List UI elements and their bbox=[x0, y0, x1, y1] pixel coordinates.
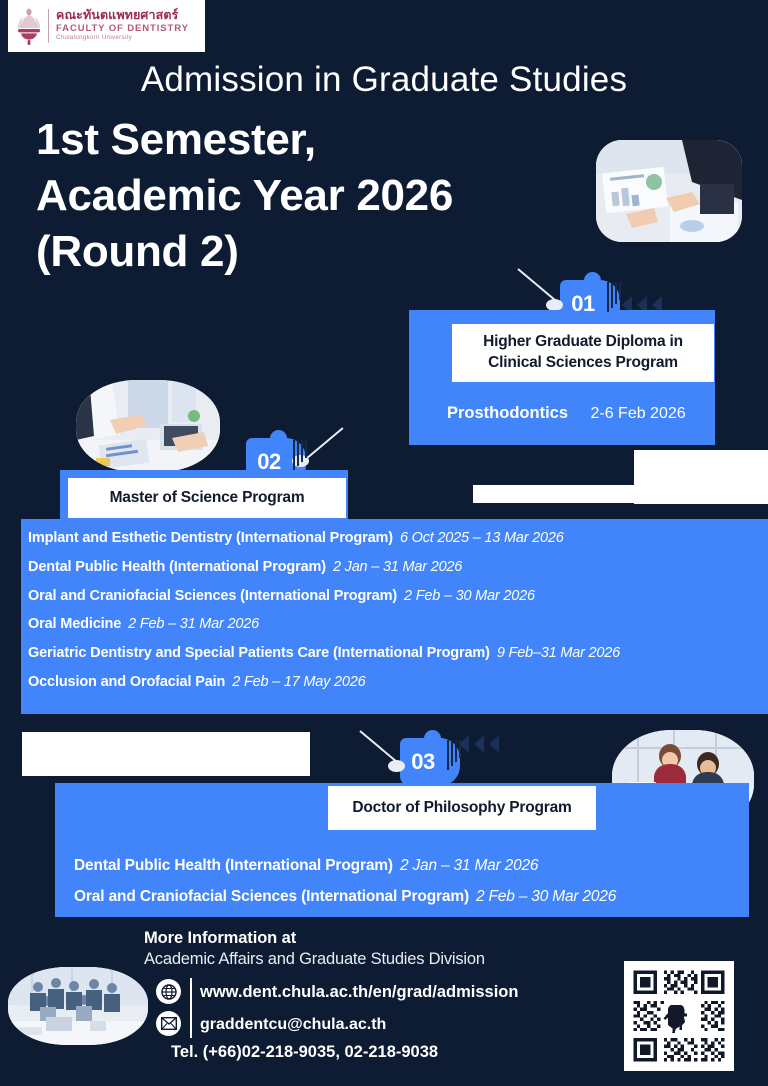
program-row: Dental Public Health (International Prog… bbox=[74, 850, 616, 881]
section-02-program-list: Implant and Esthetic Dentistry (Internat… bbox=[28, 524, 620, 697]
footer-title: More Information at bbox=[144, 929, 296, 948]
badge-bars-icon bbox=[293, 440, 307, 470]
program-name: Implant and Esthetic Dentistry (Internat… bbox=[28, 530, 393, 546]
section-02-number: 02 bbox=[246, 438, 292, 486]
program-row: Oral and Craniofacial Sciences (Internat… bbox=[28, 582, 620, 611]
website-link[interactable]: www.dent.chula.ac.th/en/grad/admission bbox=[200, 983, 518, 1002]
footer-photo-image bbox=[8, 967, 148, 1045]
program-dates: 9 Feb–31 Mar 2026 bbox=[497, 645, 620, 661]
section-01-title-card: Higher Graduate Diploma in Clinical Scie… bbox=[452, 324, 714, 382]
section-02-title-card: Master of Science Program bbox=[68, 478, 346, 518]
section-03-chevrons-icon bbox=[459, 735, 499, 753]
program-row: Dental Public Health (International Prog… bbox=[28, 553, 620, 582]
hero-photo bbox=[596, 140, 742, 242]
program-row: Oral Medicine2 Feb – 31 Mar 2026 bbox=[28, 610, 620, 639]
qr-code-image bbox=[630, 967, 728, 1065]
chula-emblem-icon bbox=[14, 6, 44, 46]
email-link[interactable]: graddentcu@chula.ac.th bbox=[200, 1016, 386, 1034]
program-dates: 2 Feb – 30 Mar 2026 bbox=[404, 588, 535, 604]
section-01-program-name: Prosthodontics bbox=[447, 404, 568, 422]
decor-rect-left-b bbox=[22, 732, 240, 744]
faculty-logo-bar: คณะทันตแพทยศาสตร์ FACULTY OF DENTISTRY C… bbox=[8, 0, 205, 52]
section-01-number: 01 bbox=[560, 280, 606, 328]
program-row: Geriatric Dentistry and Special Patients… bbox=[28, 639, 620, 668]
section-03-title: Doctor of Philosophy Program bbox=[352, 798, 571, 819]
envelope-icon bbox=[156, 1011, 181, 1036]
program-dates: 6 Oct 2025 – 13 Mar 2026 bbox=[400, 530, 564, 546]
section-03-title-card: Doctor of Philosophy Program bbox=[328, 786, 596, 830]
program-dates: 2 Jan – 31 Mar 2026 bbox=[400, 857, 538, 874]
poster-kicker: Admission in Graduate Studies bbox=[0, 60, 768, 100]
section-03-program-list: Dental Public Health (International Prog… bbox=[74, 850, 616, 912]
section-02-title: Master of Science Program bbox=[110, 488, 305, 509]
badge-bars-icon bbox=[607, 282, 621, 312]
program-row: Implant and Esthetic Dentistry (Internat… bbox=[28, 524, 620, 553]
program-name: Dental Public Health (International Prog… bbox=[74, 857, 393, 874]
section-02-photo bbox=[76, 380, 220, 472]
logo-thai-name: คณะทันตแพทยศาสตร์ bbox=[56, 9, 189, 22]
footer-photo bbox=[8, 967, 148, 1045]
program-row: Oral and Craniofacial Sciences (Internat… bbox=[74, 881, 616, 912]
logo-english-name: FACULTY OF DENTISTRY bbox=[56, 23, 189, 35]
program-dates: 2 Feb – 30 Mar 2026 bbox=[476, 888, 616, 905]
admission-poster: คณะทันตแพทยศาสตร์ FACULTY OF DENTISTRY C… bbox=[0, 0, 768, 1086]
globe-icon bbox=[156, 979, 181, 1004]
hero-photo-image bbox=[596, 140, 742, 242]
program-dates: 2 Jan – 31 Mar 2026 bbox=[333, 559, 462, 575]
section-01-program-row: Prosthodontics 2-6 Feb 2026 bbox=[447, 404, 686, 423]
poster-title: 1st Semester, Academic Year 2026 (Round … bbox=[36, 112, 453, 280]
program-name: Oral and Craniofacial Sciences (Internat… bbox=[74, 888, 469, 905]
section-02-photo-image bbox=[76, 380, 220, 472]
logo-university-name: Chulalongkorn University bbox=[56, 34, 189, 42]
program-name: Dental Public Health (International Prog… bbox=[28, 559, 326, 575]
program-name: Occlusion and Orofacial Pain bbox=[28, 674, 225, 690]
footer-subtitle: Academic Affairs and Graduate Studies Di… bbox=[144, 950, 485, 969]
program-dates: 2 Feb – 31 Mar 2026 bbox=[128, 616, 259, 632]
qr-code-icon[interactable] bbox=[624, 961, 734, 1071]
footer-divider bbox=[190, 978, 192, 1038]
section-01-program-dates: 2-6 Feb 2026 bbox=[590, 405, 685, 422]
program-dates: 2 Feb – 17 May 2026 bbox=[232, 674, 365, 690]
program-name: Geriatric Dentistry and Special Patients… bbox=[28, 645, 490, 661]
badge-bars-icon bbox=[447, 740, 461, 770]
program-name: Oral and Craniofacial Sciences (Internat… bbox=[28, 588, 397, 604]
section-03-number: 03 bbox=[400, 738, 446, 786]
section-01-title: Higher Graduate Diploma in Clinical Scie… bbox=[483, 332, 683, 374]
program-row: Occlusion and Orofacial Pain2 Feb – 17 M… bbox=[28, 668, 620, 697]
logo-divider bbox=[48, 9, 49, 43]
decor-rect-right-b bbox=[473, 485, 768, 503]
phone-text: Tel. (+66)02-218-9035, 02-218-9038 bbox=[171, 1043, 438, 1062]
program-name: Oral Medicine bbox=[28, 616, 121, 632]
